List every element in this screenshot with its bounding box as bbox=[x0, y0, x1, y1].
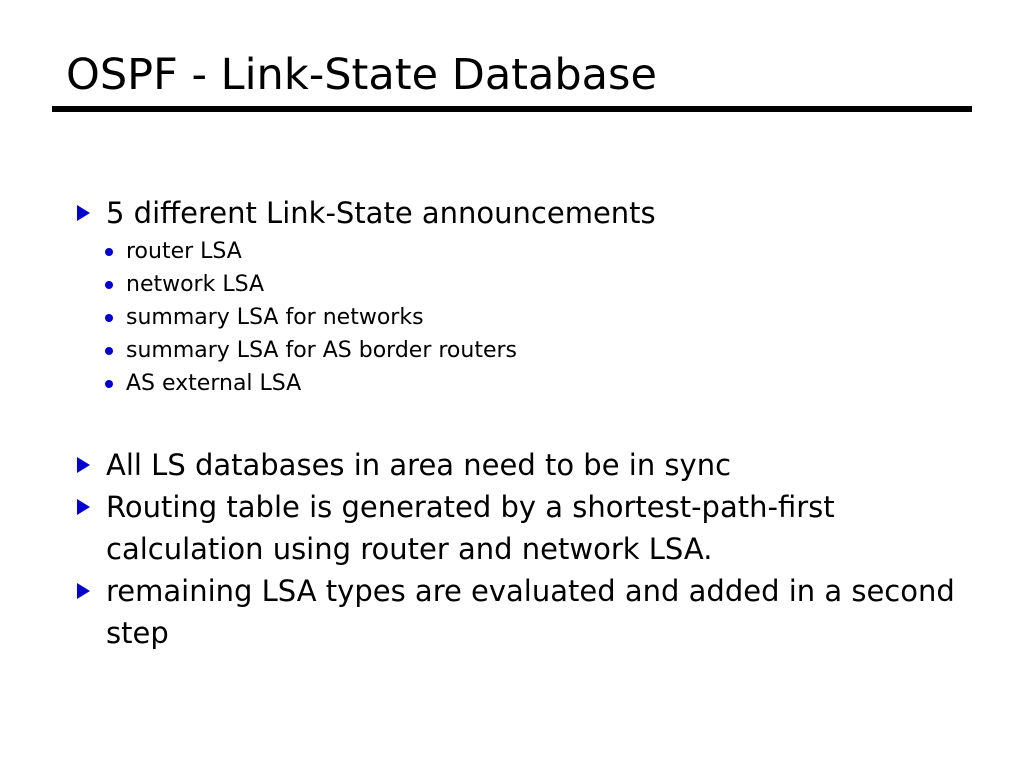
group-spacer bbox=[76, 400, 956, 444]
page-title: OSPF - Link-State Database bbox=[52, 50, 972, 100]
slide-title-block: OSPF - Link-State Database bbox=[52, 50, 972, 112]
triangle-bullet-icon bbox=[77, 457, 90, 473]
list-item: router LSA bbox=[76, 235, 956, 268]
list-item: 5 different Link-State announcements bbox=[76, 192, 956, 234]
list-item: summary LSA for networks bbox=[76, 301, 956, 334]
list-item: network LSA bbox=[76, 268, 956, 301]
triangle-bullet-icon bbox=[77, 499, 90, 515]
dot-bullet-icon bbox=[105, 314, 113, 322]
triangle-bullet-icon bbox=[77, 205, 90, 221]
slide-canvas: OSPF - Link-State Database 5 different L… bbox=[0, 0, 1024, 768]
bullet-text: AS external LSA bbox=[126, 371, 301, 396]
bullet-text: 5 different Link-State announcements bbox=[106, 196, 656, 230]
bullet-text: remaining LSA types are evaluated and ad… bbox=[106, 574, 955, 650]
list-item: remaining LSA types are evaluated and ad… bbox=[76, 570, 956, 654]
list-item: Routing table is generated by a shortest… bbox=[76, 486, 956, 570]
list-item: All LS databases in area need to be in s… bbox=[76, 444, 956, 486]
title-underline-rule bbox=[52, 106, 972, 112]
dot-bullet-icon bbox=[105, 248, 113, 256]
bullet-text: network LSA bbox=[126, 272, 264, 297]
list-item: AS external LSA bbox=[76, 367, 956, 400]
triangle-bullet-icon bbox=[77, 583, 90, 599]
dot-bullet-icon bbox=[105, 347, 113, 355]
bullet-text: router LSA bbox=[126, 239, 242, 264]
bullet-text: summary LSA for networks bbox=[126, 305, 424, 330]
sub-bullet-list: router LSA network LSA summary LSA for n… bbox=[76, 235, 956, 400]
slide-body: 5 different Link-State announcements rou… bbox=[76, 192, 956, 654]
dot-bullet-icon bbox=[105, 281, 113, 289]
bullet-text: All LS databases in area need to be in s… bbox=[106, 448, 731, 482]
bullet-text: Routing table is generated by a shortest… bbox=[106, 490, 835, 566]
dot-bullet-icon bbox=[105, 380, 113, 388]
bullet-group-announcements: 5 different Link-State announcements rou… bbox=[76, 192, 956, 400]
bullet-text: summary LSA for AS border routers bbox=[126, 338, 517, 363]
list-item: summary LSA for AS border routers bbox=[76, 334, 956, 367]
bullet-group-operation: All LS databases in area need to be in s… bbox=[76, 444, 956, 654]
